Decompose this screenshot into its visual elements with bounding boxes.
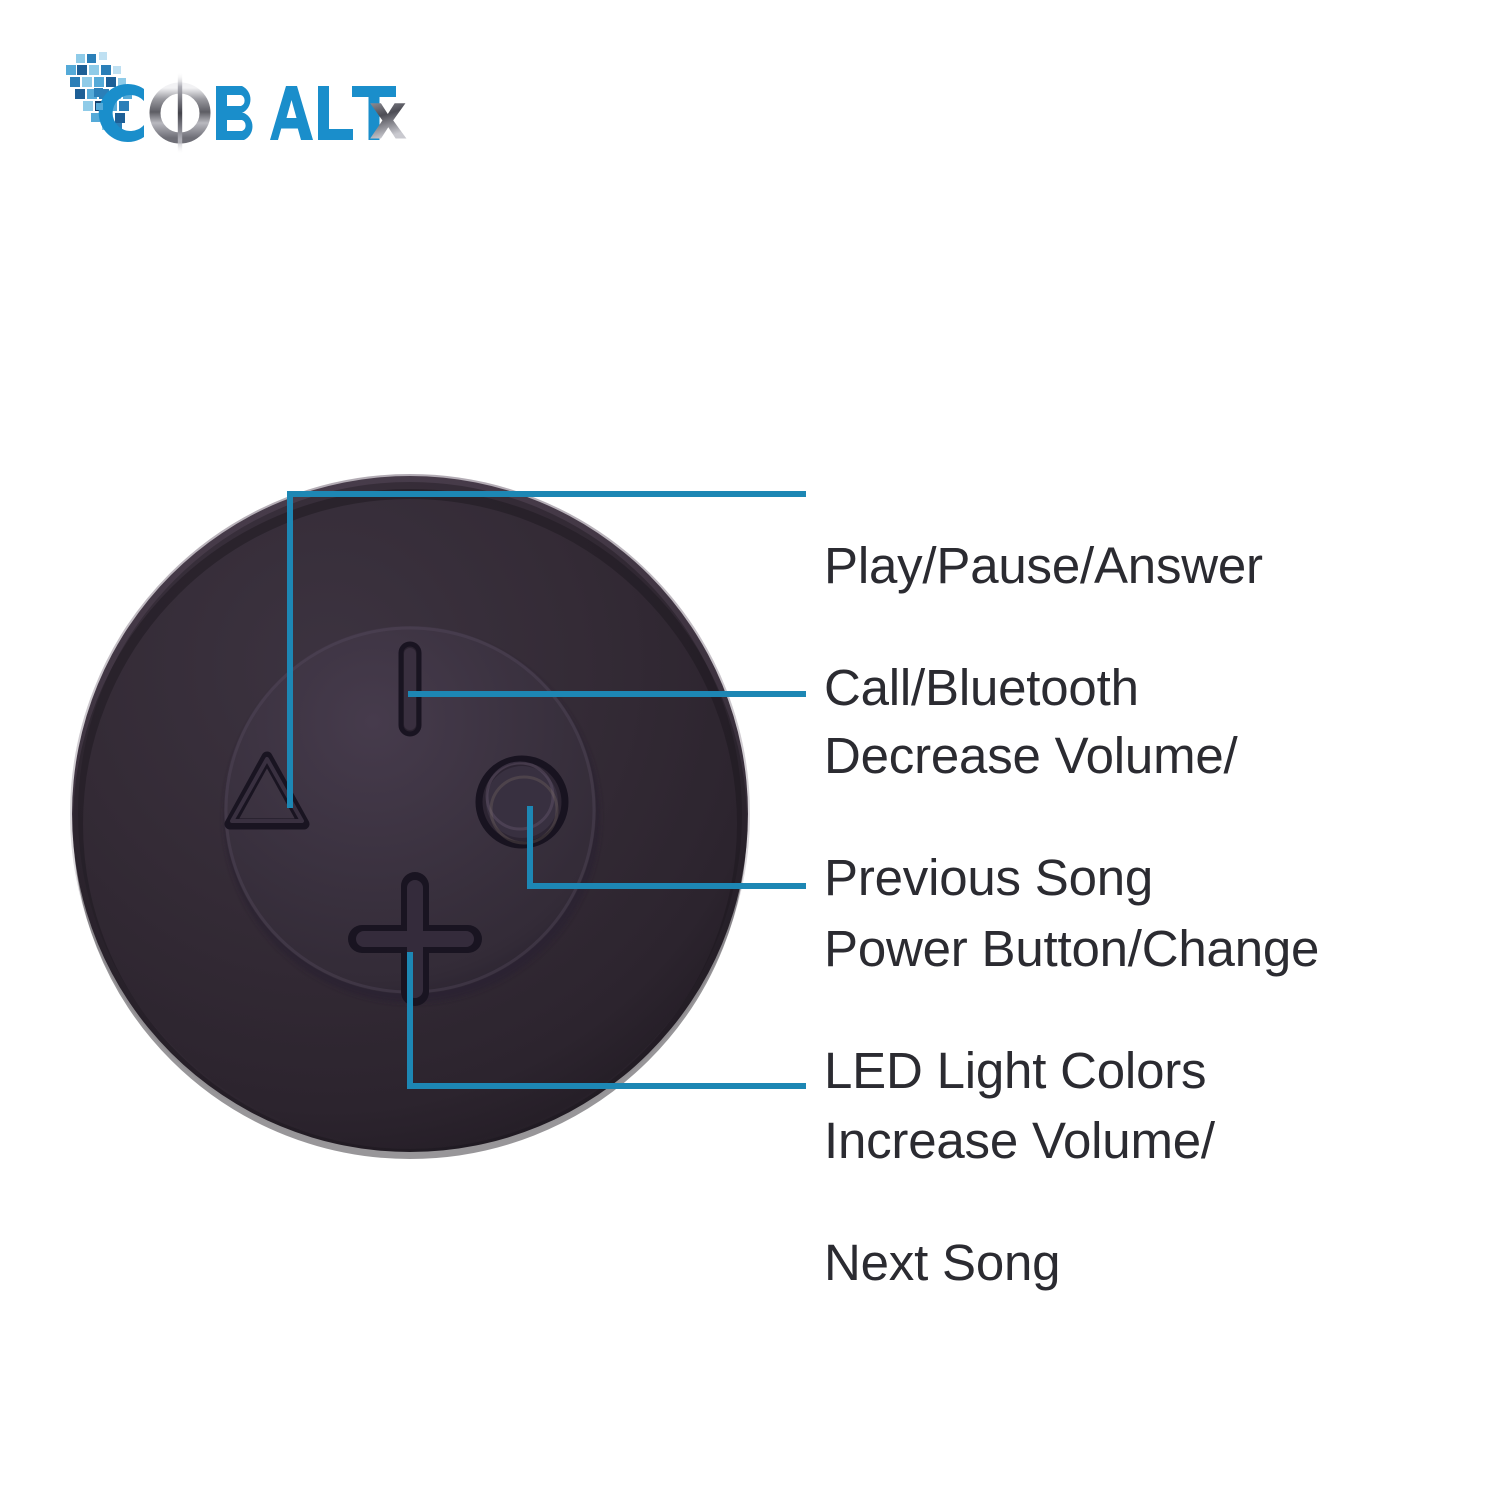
cobaltx-logo xyxy=(58,52,408,157)
callout-label-line: Power Button/Change xyxy=(824,918,1319,979)
callout-label-line: Increase Volume/ xyxy=(824,1110,1215,1171)
bluetooth-speaker-top-view xyxy=(62,452,762,1174)
diagram-canvas: Play/Pause/Answer Call/Bluetooth Decreas… xyxy=(0,0,1501,1501)
power-circle-icon[interactable] xyxy=(479,759,565,845)
callout-label-line: Next Song xyxy=(824,1232,1215,1293)
callout-label-line: Play/Pause/Answer xyxy=(824,535,1263,596)
callout-label-line: Decrease Volume/ xyxy=(824,725,1238,786)
callout-label-volume-up: Increase Volume/ Next Song xyxy=(824,1049,1215,1354)
minus-bar-icon[interactable] xyxy=(401,644,419,734)
logo-wordmark xyxy=(94,72,410,154)
